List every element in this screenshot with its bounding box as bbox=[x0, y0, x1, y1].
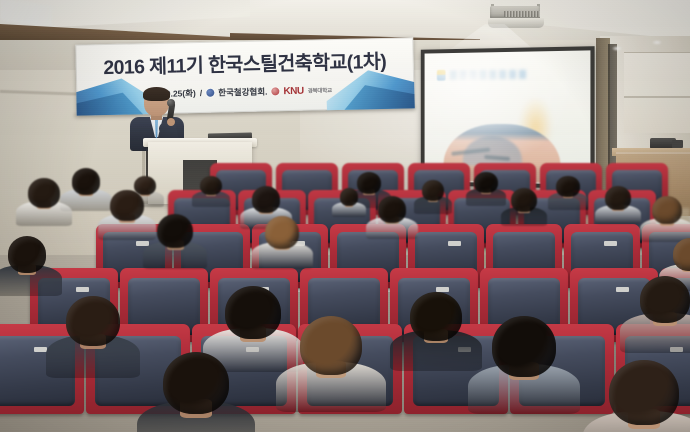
audience-member-head bbox=[640, 276, 690, 323]
audience-member bbox=[150, 214, 200, 260]
audience-member bbox=[470, 172, 502, 200]
right-wall-panel bbox=[624, 52, 690, 133]
audience-member bbox=[552, 176, 584, 204]
seat-number-tag bbox=[616, 287, 629, 292]
audience-member-head bbox=[378, 196, 407, 223]
seat-number-tag bbox=[448, 241, 461, 246]
projector-vent bbox=[504, 11, 540, 17]
ceiling-spotlight-2 bbox=[652, 40, 662, 45]
banner-separator: / bbox=[200, 88, 203, 98]
audience-member bbox=[0, 236, 54, 286]
presenter-hand bbox=[167, 118, 175, 126]
knu-university-name: 경북대학교 bbox=[308, 86, 332, 95]
audience-member-head bbox=[609, 360, 678, 425]
audience-member-head bbox=[556, 176, 579, 197]
audience-member bbox=[596, 360, 690, 432]
audience-member bbox=[104, 190, 150, 232]
ksa-logo-icon bbox=[206, 89, 214, 97]
audience-member-head bbox=[300, 316, 362, 375]
event-banner: 2016 제11기 한국스틸건축학교(1차) .10.25(화) / 한국철강협… bbox=[75, 37, 414, 115]
audience-member-head bbox=[28, 178, 60, 208]
audience-member bbox=[214, 286, 292, 358]
audience-member bbox=[258, 216, 306, 260]
audience-member-head bbox=[474, 172, 497, 193]
audience-member bbox=[400, 292, 472, 358]
audience-member bbox=[418, 180, 448, 208]
audience-member-head bbox=[422, 180, 444, 201]
audience-member-head bbox=[340, 188, 359, 206]
seat-number-tag bbox=[604, 241, 617, 246]
lecture-hall-photograph: 2016 제11기 한국스틸건축학교(1차) .10.25(화) / 한국철강협… bbox=[0, 0, 690, 432]
presenter-hair bbox=[143, 87, 170, 101]
audience-member bbox=[66, 168, 106, 204]
audience-member bbox=[22, 178, 66, 218]
audience-member-head bbox=[200, 176, 222, 195]
seat-number-tag bbox=[76, 287, 89, 292]
audience-member bbox=[56, 296, 130, 364]
audience-member bbox=[372, 196, 412, 232]
audience-member-head bbox=[252, 186, 281, 213]
audience-member-head bbox=[673, 238, 690, 271]
audience-member-head bbox=[110, 190, 143, 221]
audience-member-head bbox=[492, 316, 555, 377]
audience-member bbox=[506, 188, 542, 220]
seat-number-tag bbox=[136, 241, 149, 246]
banner-organizer: 한국철강협회. bbox=[218, 86, 268, 99]
audience-member-head bbox=[225, 286, 281, 339]
audience-member-head bbox=[8, 236, 47, 273]
audience-member-head bbox=[410, 292, 462, 341]
audience-member bbox=[480, 316, 568, 398]
audience-member bbox=[336, 188, 362, 212]
booth-equipment-small bbox=[672, 140, 683, 148]
audience-member-head bbox=[652, 196, 682, 224]
audience-member bbox=[630, 276, 690, 340]
audience-member-head bbox=[72, 168, 101, 195]
audience-member bbox=[288, 316, 374, 396]
microphone-head bbox=[167, 99, 175, 107]
knu-wordmark: KNU bbox=[283, 85, 303, 96]
seating-area bbox=[0, 160, 690, 432]
ceiling-spotlight-1 bbox=[612, 46, 622, 51]
audience-member bbox=[150, 352, 242, 432]
audience-member-head bbox=[265, 216, 300, 249]
audience-member-head bbox=[66, 296, 119, 346]
audience-member bbox=[600, 186, 636, 218]
audience-member-head bbox=[163, 352, 229, 414]
audience-member-head bbox=[511, 188, 537, 212]
audience-member-head bbox=[157, 214, 193, 248]
knu-logo-icon bbox=[271, 87, 279, 95]
audience-member bbox=[646, 196, 688, 234]
right-wall-seam bbox=[624, 96, 690, 98]
audience-member-head bbox=[605, 186, 631, 210]
audience-member bbox=[196, 176, 226, 202]
